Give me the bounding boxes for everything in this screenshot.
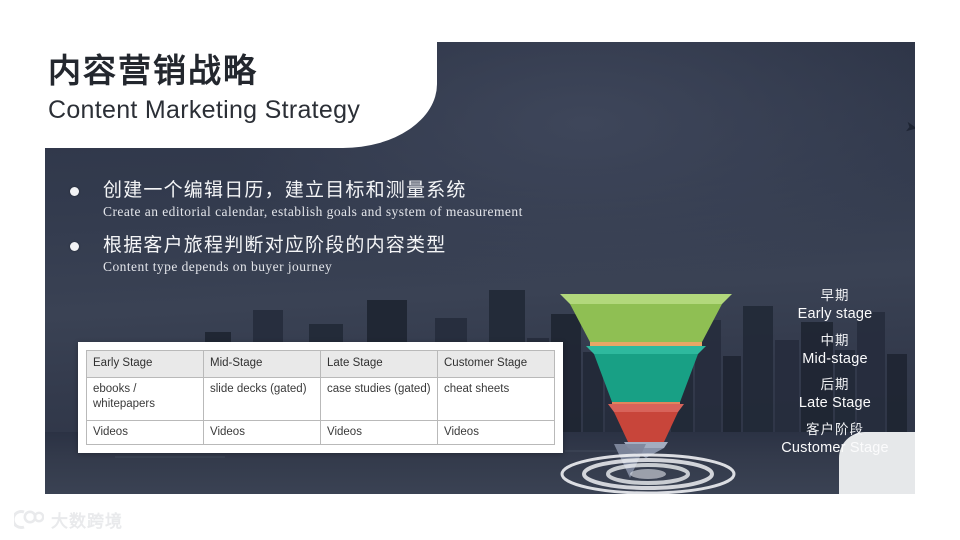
slide-root: ➤ ➤ ➤ ➤ <box>0 0 960 540</box>
table-cell: Videos <box>438 420 555 445</box>
bullet-text-cn: 根据客户旅程判断对应阶段的内容类型 <box>103 233 670 257</box>
table-cell: Videos <box>87 420 204 445</box>
stage-label-en: Early stage <box>740 305 930 324</box>
funnel-stage-labels: 早期 Early stage 中期 Mid-stage 后期 Late Stag… <box>740 288 930 467</box>
bullet-dot-icon <box>70 242 79 251</box>
table-cell: ebooks / whitepapers <box>87 377 204 420</box>
list-item: 创建一个编辑日历，建立目标和测量系统 Create an editorial c… <box>70 178 670 222</box>
table-cell: cheat sheets <box>438 377 555 420</box>
table-row: Videos Videos Videos Videos <box>87 420 555 445</box>
table-header-cell: Customer Stage <box>438 351 555 378</box>
funnel-diagram <box>556 282 736 452</box>
stage-label-cn: 后期 <box>740 377 930 394</box>
stage-label-mid: 中期 Mid-stage <box>740 333 930 369</box>
table-cell: Videos <box>321 420 438 445</box>
bullet-text-en: Content type depends on buyer journey <box>103 258 670 276</box>
watermark-text: 大数跨境 <box>51 507 123 532</box>
target-bullseye <box>630 469 666 479</box>
table-header-cell: Mid-Stage <box>204 351 321 378</box>
stage-label-cn: 早期 <box>740 288 930 305</box>
stage-label-customer: 客户阶段 Customer Stage <box>740 422 930 458</box>
table-cell: Videos <box>204 420 321 445</box>
stage-label-cn: 客户阶段 <box>740 422 930 439</box>
table-cell: case studies (gated) <box>321 377 438 420</box>
funnel-segment-mid-body <box>594 354 698 402</box>
funnel-segment-late-top <box>608 404 684 412</box>
watermark-logo: 大数跨境 <box>14 507 123 532</box>
bullet-text-cn: 创建一个编辑日历，建立目标和测量系统 <box>103 178 670 202</box>
stage-label-early: 早期 Early stage <box>740 288 930 324</box>
list-item: 根据客户旅程判断对应阶段的内容类型 Content type depends o… <box>70 233 670 277</box>
funnel-segment-mid-top <box>586 346 706 354</box>
page-title-cn: 内容营销战略 <box>48 44 258 92</box>
table-header-cell: Early Stage <box>87 351 204 378</box>
bullet-dot-icon <box>70 187 79 196</box>
stage-label-cn: 中期 <box>740 333 930 350</box>
content-type-table: Early Stage Mid-Stage Late Stage Custome… <box>78 342 563 453</box>
bird-icon: ➤ <box>904 119 915 136</box>
funnel-segment-late-body <box>614 412 678 442</box>
page-title-en: Content Marketing Strategy <box>48 96 360 125</box>
logo-mark-icon <box>14 509 44 530</box>
table-row: ebooks / whitepapers slide decks (gated)… <box>87 377 555 420</box>
stage-label-late: 后期 Late Stage <box>740 377 930 413</box>
target-rings <box>560 444 736 494</box>
table-cell: slide decks (gated) <box>204 377 321 420</box>
bullet-list: 创建一个编辑日历，建立目标和测量系统 Create an editorial c… <box>70 178 670 287</box>
bullet-text-en: Create an editorial calendar, establish … <box>103 203 670 221</box>
stage-label-en: Late Stage <box>740 394 930 413</box>
funnel-segment-early-body <box>570 304 722 342</box>
table-header-row: Early Stage Mid-Stage Late Stage Custome… <box>87 351 555 378</box>
stage-label-en: Mid-stage <box>740 350 930 369</box>
table-header-cell: Late Stage <box>321 351 438 378</box>
stage-label-en: Customer Stage <box>740 439 930 458</box>
funnel-segment-early-top <box>560 294 732 304</box>
